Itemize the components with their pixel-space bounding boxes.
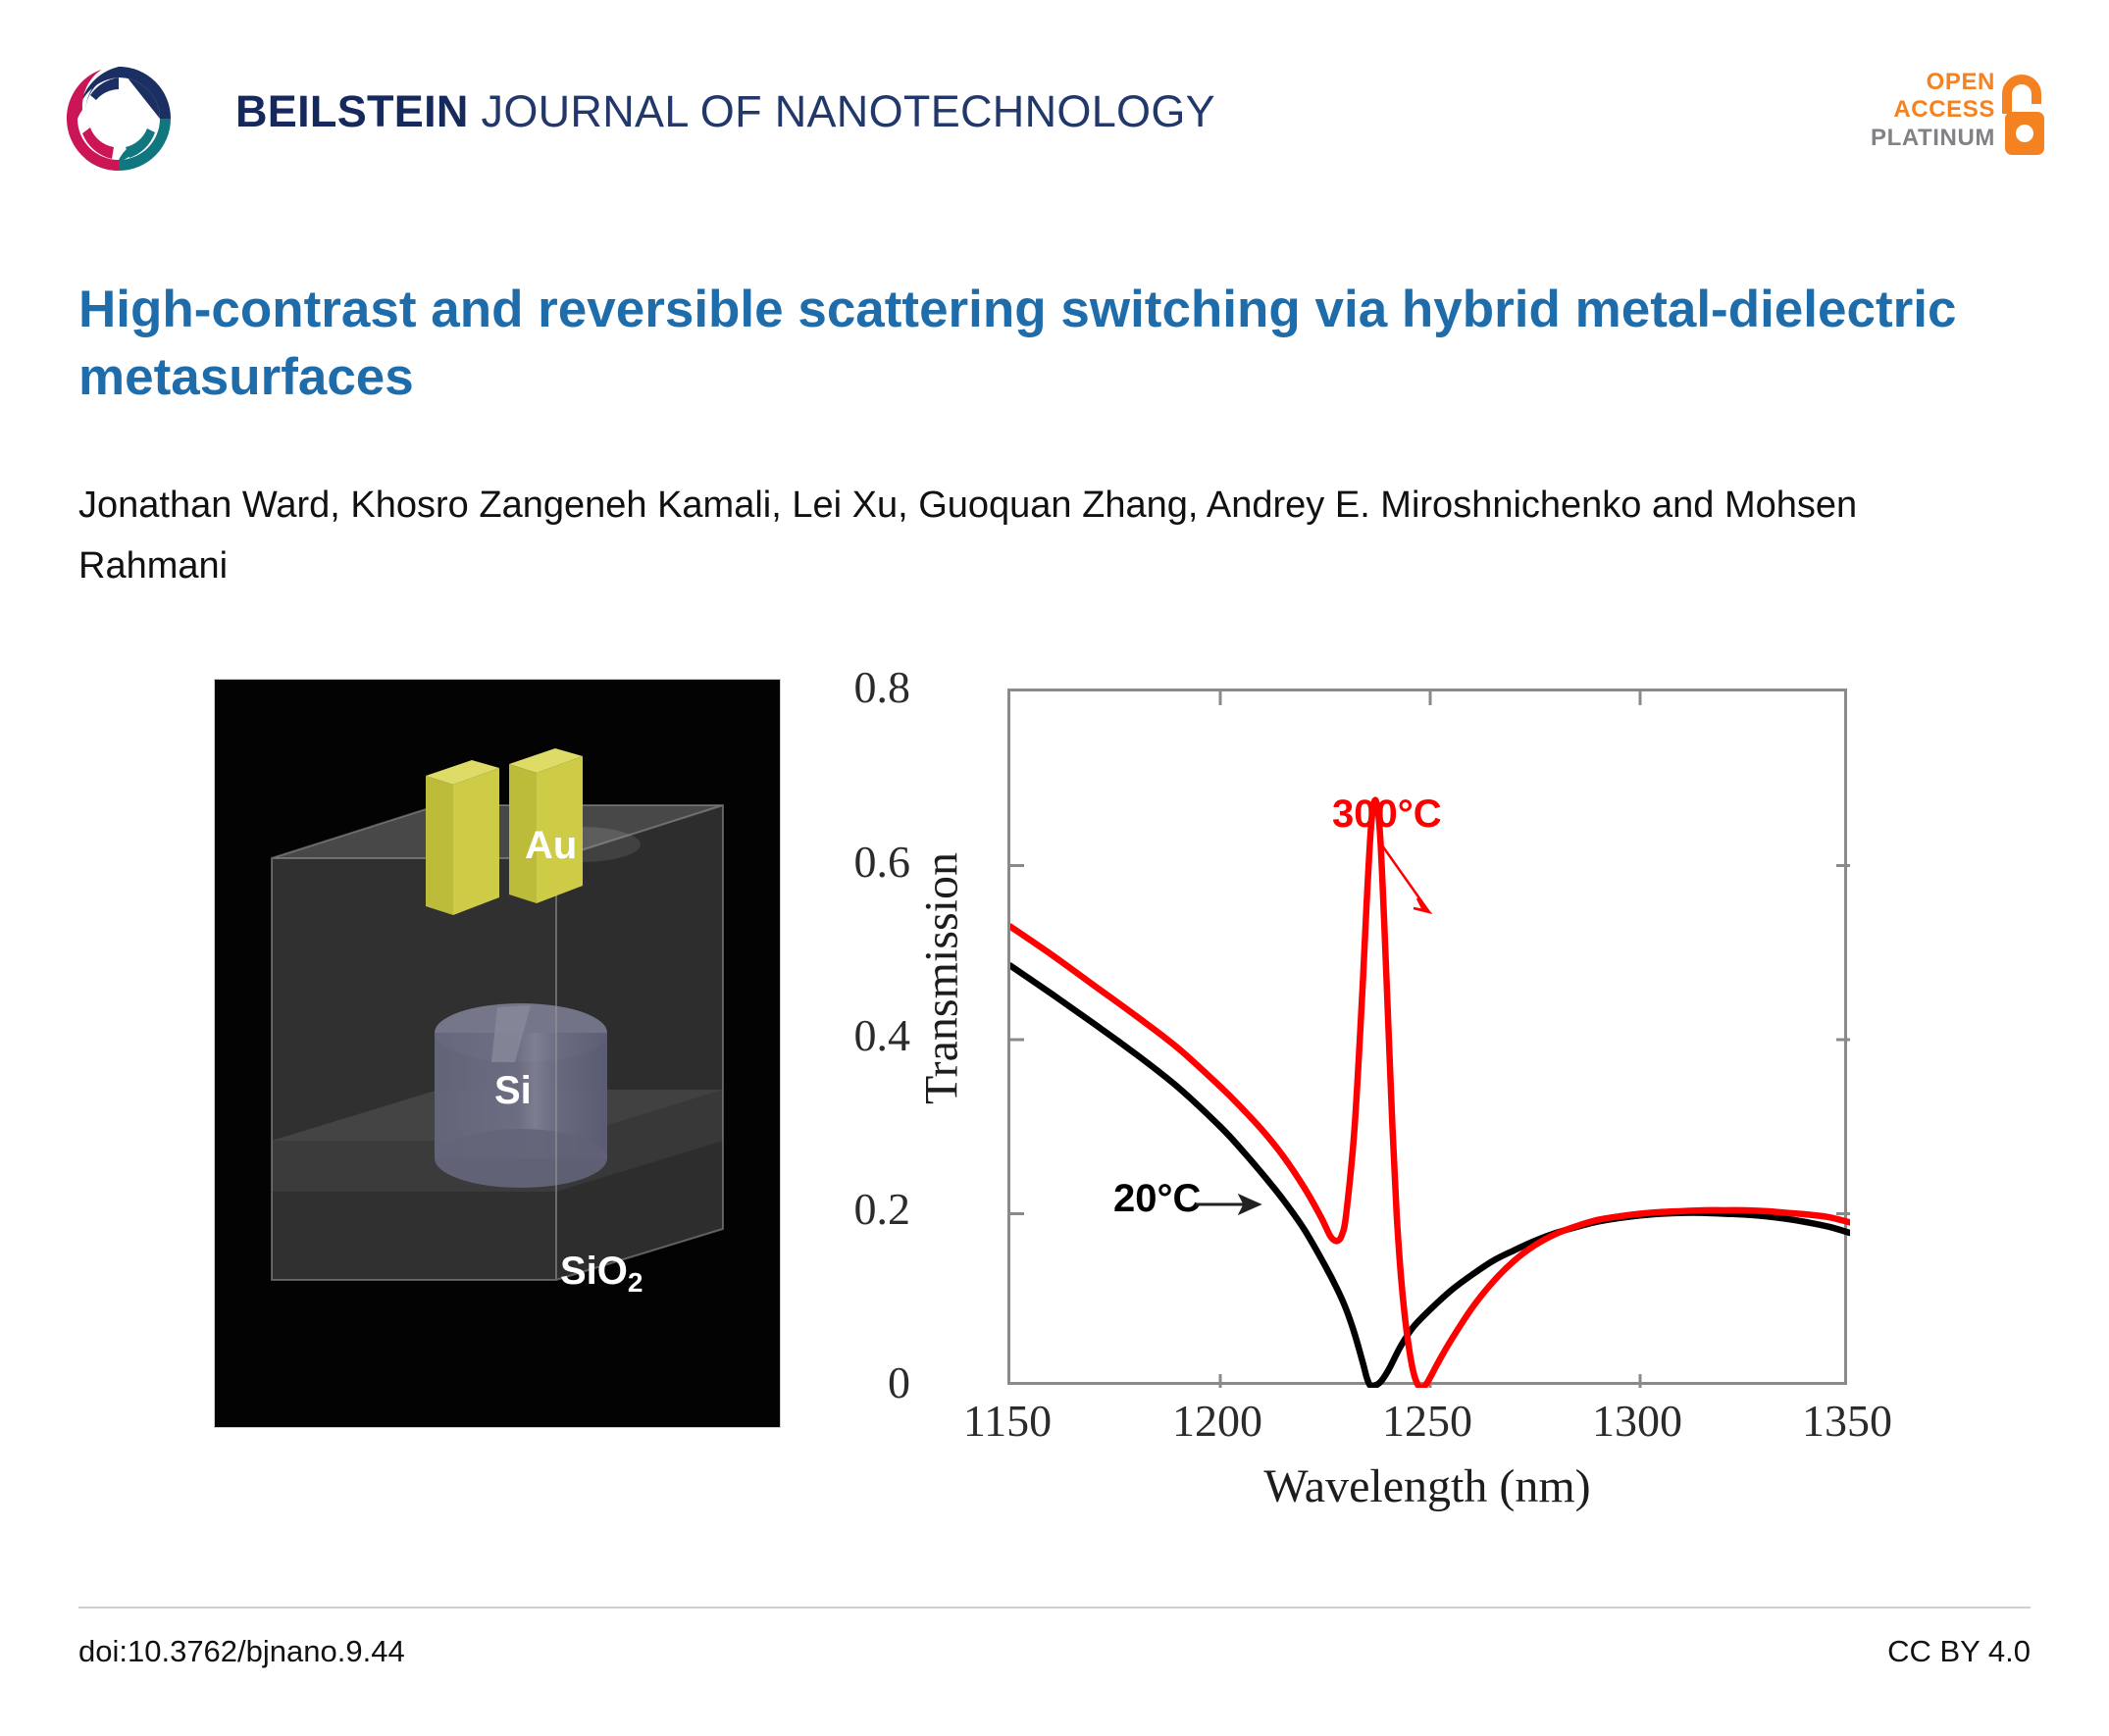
open-padlock-icon xyxy=(1997,73,2050,157)
x-tick-label: 1350 xyxy=(1769,1395,1926,1447)
open-access-line2: ACCESS xyxy=(1871,96,1995,124)
page-title: High-contrast and reversible scattering … xyxy=(78,277,2001,412)
open-access-line1: OPEN xyxy=(1871,69,1995,96)
y-axis-title: Transmission xyxy=(915,773,969,1185)
open-access-labels: OPEN ACCESS PLATINUM xyxy=(1871,69,1995,152)
y-tick-label: 0.8 xyxy=(734,661,910,713)
series-paths xyxy=(1010,800,1850,1388)
journal-title-rest: JOURNAL OF NANOTECHNOLOGY xyxy=(469,86,1215,136)
x-tick-label: 1150 xyxy=(929,1395,1086,1447)
x-tick-label: 1300 xyxy=(1559,1395,1716,1447)
series-line-1 xyxy=(1010,800,1850,1388)
doi-text: doi:10.3762/bjnano.9.44 xyxy=(78,1634,405,1669)
metasurface-schematic: Au Si SiO2 xyxy=(214,679,781,1428)
license-text: CC BY 4.0 xyxy=(1887,1634,2031,1669)
transmission-chart: 0.8 0.6 0.4 0.2 0 1150 1200 1250 1300 13… xyxy=(863,657,1903,1501)
footer-divider xyxy=(78,1607,2031,1608)
open-access-badge: OPEN ACCESS PLATINUM xyxy=(1864,65,2050,163)
figure-row: Au Si SiO2 0.8 0.6 0.4 0.2 0 1150 1200 1… xyxy=(0,657,2109,1501)
x-tick-label: 1250 xyxy=(1349,1395,1506,1447)
y-tick-label: 0.6 xyxy=(734,836,910,888)
authors-list: Jonathan Ward, Khosro Zangeneh Kamali, L… xyxy=(78,476,2001,596)
x-axis-title: Wavelength (nm) xyxy=(1007,1459,1847,1513)
schematic-label-si: Si xyxy=(494,1069,532,1112)
journal-title: BEILSTEIN JOURNAL OF NANOTECHNOLOGY xyxy=(235,86,1215,137)
page-header: BEILSTEIN JOURNAL OF NANOTECHNOLOGY OPEN… xyxy=(0,0,2109,186)
beilstein-swirl-logo xyxy=(61,61,177,177)
journal-title-bold: BEILSTEIN xyxy=(235,86,469,136)
y-tick-label: 0.2 xyxy=(734,1183,910,1235)
annotation-20c: 20°C xyxy=(1113,1177,1201,1221)
schematic-label-au: Au xyxy=(525,824,577,867)
open-access-line3: PLATINUM xyxy=(1871,125,1995,152)
series-line-0 xyxy=(1010,966,1850,1387)
annotation-300c: 300°C xyxy=(1332,792,1442,837)
y-tick-label: 0 xyxy=(734,1356,910,1408)
x-tick-label: 1200 xyxy=(1139,1395,1296,1447)
y-tick-label: 0.4 xyxy=(734,1009,910,1061)
